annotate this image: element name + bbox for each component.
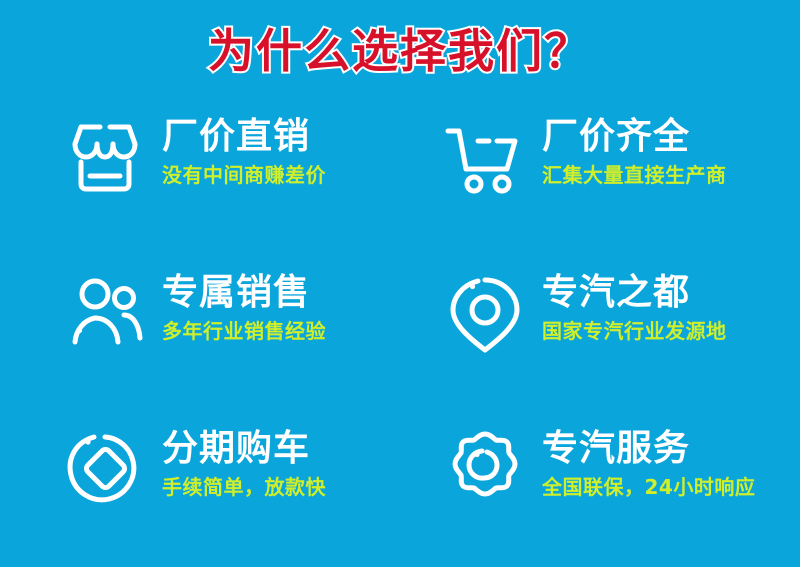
feature-headline: 厂价直销 — [162, 116, 326, 158]
feature-headline: 分期购车 — [162, 428, 326, 470]
feature-text: 厂价齐全 汇集大量直接生产商 — [542, 108, 727, 188]
coin-diamond-icon — [62, 426, 148, 512]
feature-text: 专汽服务 全国联保，24小时响应 — [542, 420, 755, 500]
gear-icon — [442, 426, 528, 512]
feature-text: 专属销售 多年行业销售经验 — [162, 264, 326, 344]
storefront-icon — [62, 114, 148, 200]
feature-item-auto-capital: 专汽之都 国家专汽行业发源地 — [400, 264, 800, 420]
feature-subline: 全国联保，24小时响应 — [542, 474, 755, 500]
banner-title-container: 为什么选择我们？ — [0, 22, 800, 80]
feature-text: 分期购车 手续简单，放款快 — [162, 420, 326, 500]
feature-headline: 专汽服务 — [542, 428, 755, 470]
feature-item-service: 专汽服务 全国联保，24小时响应 — [400, 420, 800, 576]
feature-subline: 手续简单，放款快 — [162, 474, 326, 500]
promo-banner: 为什么选择我们？ 厂价直销 没有中间商赚差价 — [0, 0, 800, 567]
feature-headline: 专汽之都 — [542, 272, 727, 314]
feature-item-factory-direct: 厂价直销 没有中间商赚差价 — [0, 108, 400, 264]
feature-headline: 专属销售 — [162, 272, 326, 314]
feature-item-full-range: 厂价齐全 汇集大量直接生产商 — [400, 108, 800, 264]
shopping-cart-icon — [442, 114, 528, 200]
feature-grid: 厂价直销 没有中间商赚差价 厂价齐全 汇集大量直接生产商 — [0, 108, 800, 548]
two-people-icon — [62, 270, 148, 356]
feature-text: 厂价直销 没有中间商赚差价 — [162, 108, 326, 188]
feature-subline: 没有中间商赚差价 — [162, 162, 326, 188]
feature-text: 专汽之都 国家专汽行业发源地 — [542, 264, 727, 344]
feature-headline: 厂价齐全 — [542, 116, 727, 158]
page-title: 为什么选择我们？ — [208, 22, 592, 80]
feature-subline: 汇集大量直接生产商 — [542, 162, 727, 188]
feature-subline: 国家专汽行业发源地 — [542, 318, 727, 344]
feature-item-dedicated-sales: 专属销售 多年行业销售经验 — [0, 264, 400, 420]
feature-item-installment: 分期购车 手续简单，放款快 — [0, 420, 400, 576]
location-pin-icon — [442, 270, 528, 356]
feature-subline: 多年行业销售经验 — [162, 318, 326, 344]
